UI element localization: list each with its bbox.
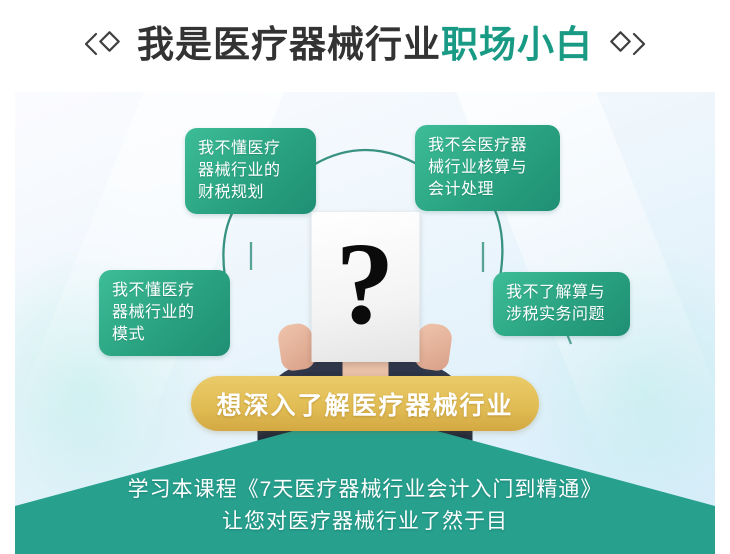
hand-right bbox=[413, 322, 453, 372]
bubble-bottom-left[interactable]: 我不懂医疗 器械行业的 模式 bbox=[99, 270, 230, 356]
bubble-top-left[interactable]: 我不懂医疗 器械行业的 财税规划 bbox=[185, 128, 316, 214]
bubble-line: 我不懂医疗 bbox=[112, 280, 217, 302]
bubble-line: 模式 bbox=[112, 324, 217, 346]
bubble-line: 我不了解算与 bbox=[506, 282, 617, 304]
banner-line-2: 让您对医疗器械行业了然于目 bbox=[222, 506, 508, 538]
question-mark-sign: ? bbox=[311, 212, 419, 362]
diamond-chevron-right-icon bbox=[607, 31, 647, 57]
page-title-accent: 职场小白 bbox=[441, 26, 593, 63]
page-title-primary: 我是医疗器械行业 bbox=[137, 26, 441, 63]
bubble-line: 器械行业的 bbox=[198, 160, 303, 182]
bubble-line: 器械行业的 bbox=[112, 302, 217, 324]
bubble-line: 械行业核算与 bbox=[428, 157, 547, 179]
hero-illustration-panel: ? 我不懂医疗 器械行业的 财税规划 我不会医疗器 械行业核算与 会计处理 我不… bbox=[15, 92, 715, 554]
bubble-line: 涉税实务问题 bbox=[506, 304, 617, 326]
bubble-line: 我不懂医疗 bbox=[198, 138, 303, 160]
bubble-line: 财税规划 bbox=[198, 182, 303, 204]
cta-pill-button[interactable]: 想深入了解医疗器械行业 bbox=[191, 376, 539, 431]
bubble-line: 我不会医疗器 bbox=[428, 135, 547, 157]
bubble-top-right[interactable]: 我不会医疗器 械行业核算与 会计处理 bbox=[415, 125, 560, 211]
promo-banner-page: 我是医疗器械行业职场小白 bbox=[0, 0, 730, 554]
page-header: 我是医疗器械行业职场小白 bbox=[0, 0, 730, 88]
question-mark-glyph: ? bbox=[336, 225, 395, 343]
page-title: 我是医疗器械行业职场小白 bbox=[137, 26, 593, 63]
banner-line-1: 学习本课程《7天医疗器械行业会计入门到精通》 bbox=[128, 474, 603, 506]
chevron-diamond-left-icon bbox=[83, 31, 123, 57]
bubble-line: 会计处理 bbox=[428, 179, 547, 201]
bubble-bottom-right[interactable]: 我不了解算与 涉税实务问题 bbox=[493, 272, 630, 336]
